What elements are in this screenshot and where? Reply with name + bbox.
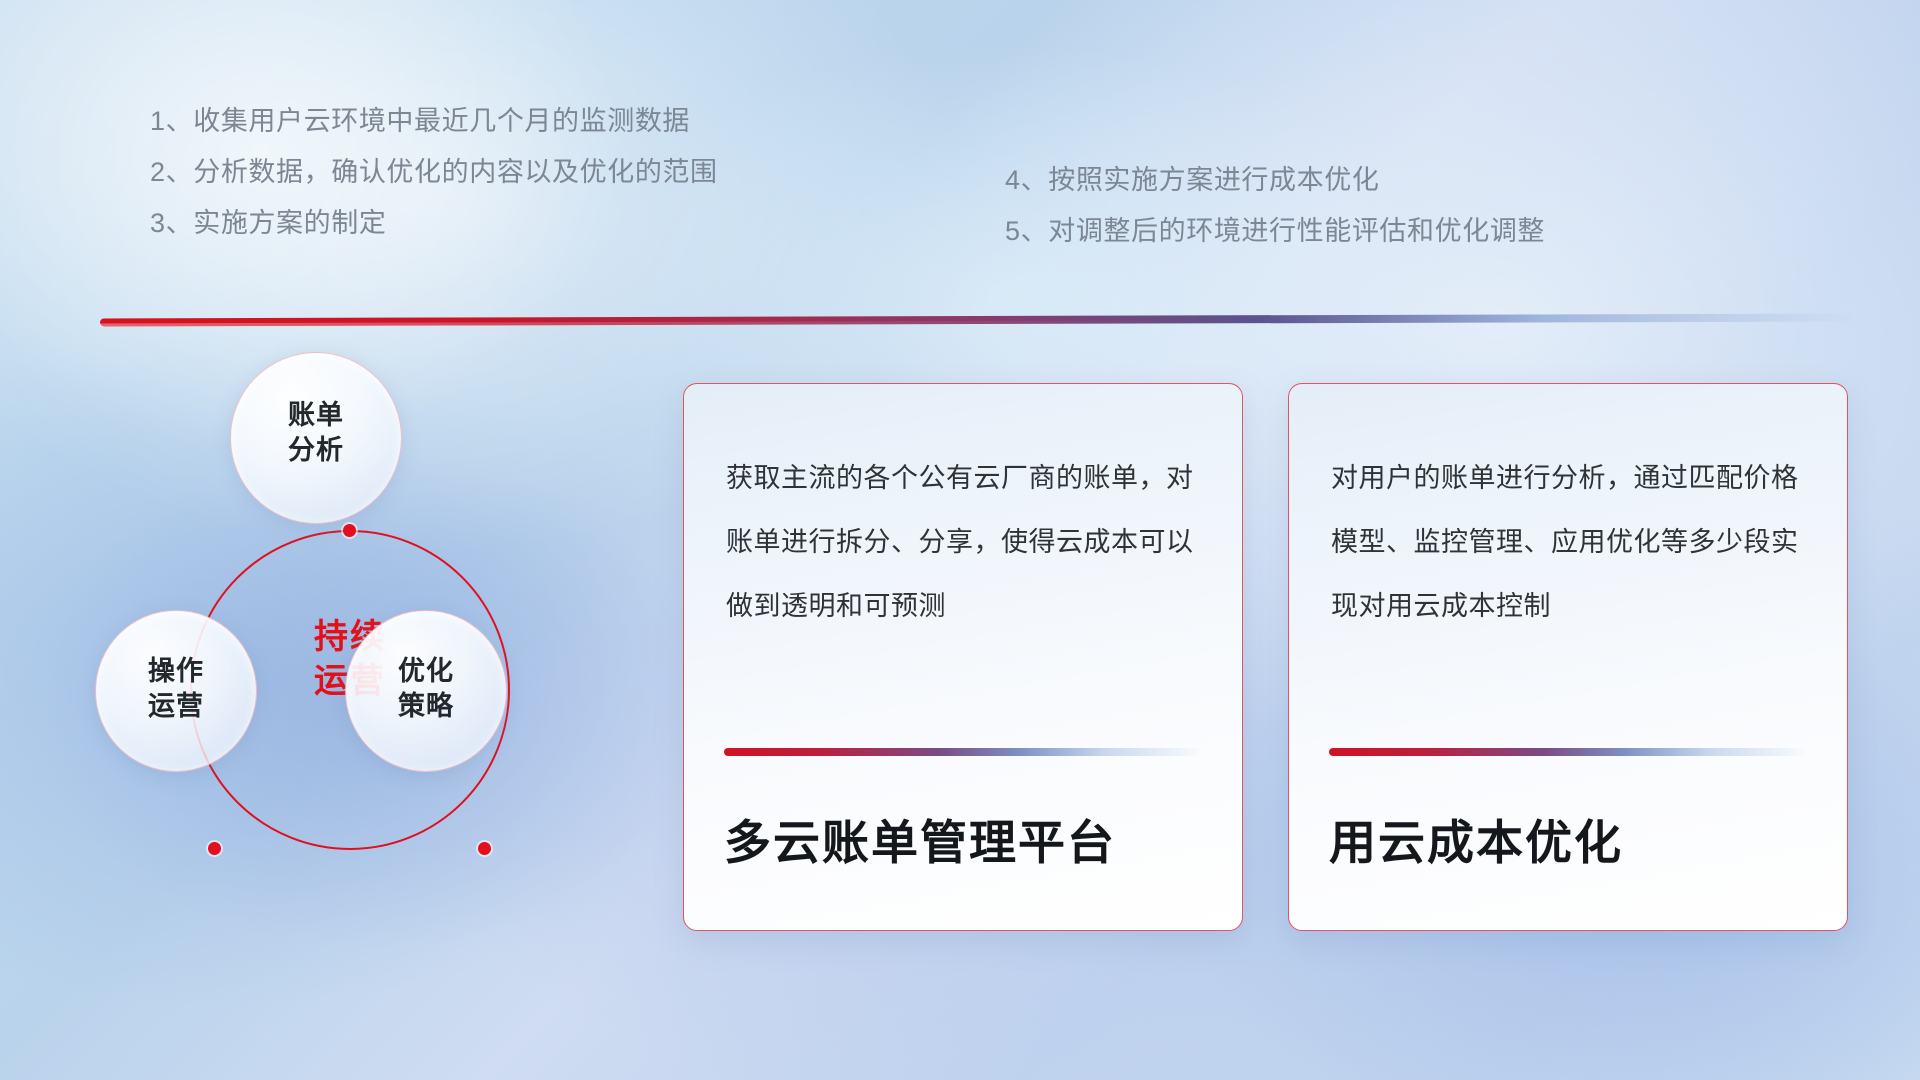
slide-background: 1、收集用户云环境中最近几个月的监测数据 2、分析数据，确认优化的内容以及优化的…: [0, 0, 1920, 1080]
bullet-item: 1、收集用户云环境中最近几个月的监测数据: [150, 96, 830, 147]
diagram-node-top-line2: 分析: [231, 433, 401, 468]
info-card-body: 对用户的账单进行分析，通过匹配价格模型、监控管理、应用优化等多少段实现对用云成本…: [1331, 446, 1813, 638]
diagram-node-top[interactable]: 账单 分析: [230, 352, 402, 524]
info-card-title: 用云成本优化: [1329, 804, 1813, 873]
bullet-item: 3、实施方案的制定: [150, 198, 830, 249]
diagram-node-right-line2: 策略: [346, 689, 506, 724]
info-card-rule: [1329, 748, 1807, 756]
bullet-item: 2、分析数据，确认优化的内容以及优化的范围: [150, 147, 830, 198]
bullet-item: 5、对调整后的环境进行性能评估和优化调整: [1005, 206, 1745, 257]
bullet-list-left: 1、收集用户云环境中最近几个月的监测数据 2、分析数据，确认优化的内容以及优化的…: [150, 96, 830, 249]
section-divider: [100, 314, 1860, 327]
diagram-connector-dot-top: [343, 524, 356, 537]
diagram-connector-dot-right: [478, 842, 491, 855]
diagram-connector-dot-left: [208, 842, 221, 855]
circle-diagram: 持续 运营 账单 分析 操作 运营 优化 策略: [95, 360, 555, 920]
info-card-bill-platform[interactable]: 获取主流的各个公有云厂商的账单，对账单进行拆分、分享，使得云成本可以做到透明和可…: [683, 383, 1243, 931]
diagram-node-left-line2: 运营: [96, 689, 256, 724]
diagram-node-top-label: 账单 分析: [231, 398, 401, 468]
diagram-node-right[interactable]: 优化 策略: [345, 610, 507, 772]
info-card-title: 多云账单管理平台: [724, 804, 1208, 873]
bullet-item: 4、按照实施方案进行成本优化: [1005, 155, 1745, 206]
diagram-node-left-label: 操作 运营: [96, 654, 256, 724]
diagram-node-right-line1: 优化: [346, 654, 506, 689]
diagram-node-left-line1: 操作: [96, 654, 256, 689]
diagram-node-left[interactable]: 操作 运营: [95, 610, 257, 772]
diagram-node-right-label: 优化 策略: [346, 654, 506, 724]
diagram-node-top-line1: 账单: [231, 398, 401, 433]
bullet-list-right: 4、按照实施方案进行成本优化 5、对调整后的环境进行性能评估和优化调整: [1005, 155, 1745, 257]
info-card-rule: [724, 748, 1202, 756]
info-card-cost-optimization[interactable]: 对用户的账单进行分析，通过匹配价格模型、监控管理、应用优化等多少段实现对用云成本…: [1288, 383, 1848, 931]
info-card-body: 获取主流的各个公有云厂商的账单，对账单进行拆分、分享，使得云成本可以做到透明和可…: [726, 446, 1208, 638]
